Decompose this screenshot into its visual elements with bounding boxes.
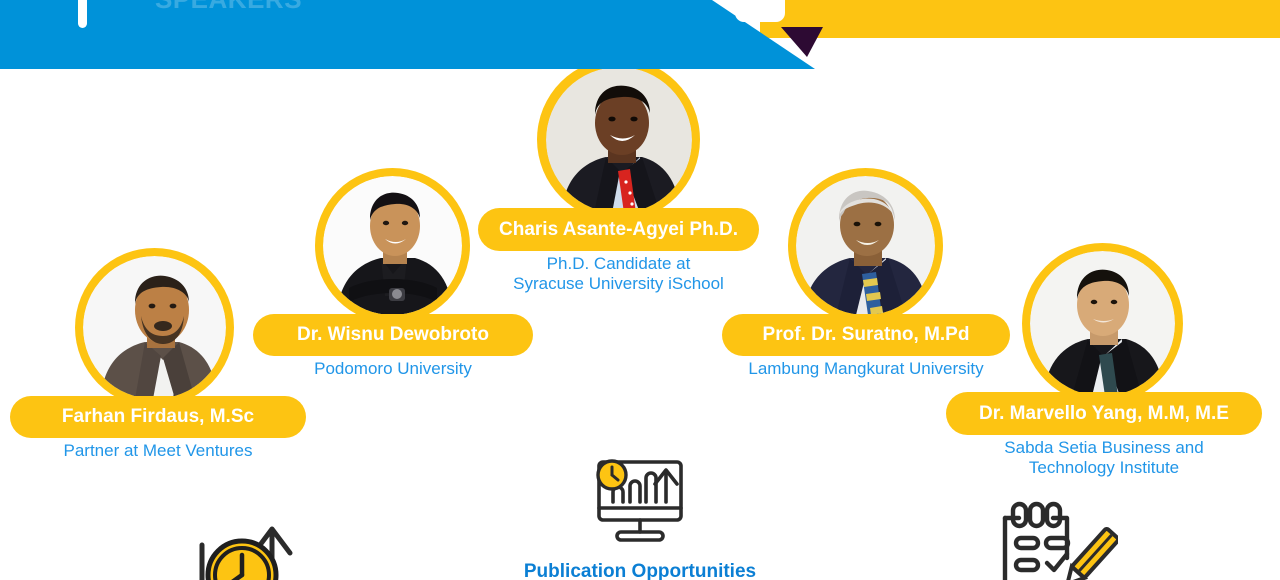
speaker-name-badge-farhan-firdaus: Farhan Firdaus, M.Sc bbox=[10, 396, 306, 438]
avatar-photo-marvello-yang bbox=[1030, 251, 1175, 396]
avatar-wisnu-dewobroto bbox=[315, 168, 470, 323]
speaker-card-marvello-yang[interactable]: Dr. Marvello Yang, M.M, M.E Sabda Setia … bbox=[1022, 243, 1183, 404]
clock-arrow-up-icon bbox=[180, 505, 310, 580]
speaker-affiliation-farhan-firdaus: Partner at Meet Ventures bbox=[10, 441, 306, 461]
banner-white-accent-bar bbox=[78, 0, 87, 28]
speaker-affiliation-wisnu-dewobroto: Podomoro University bbox=[253, 359, 533, 379]
speaker-name-badge-suratno: Prof. Dr. Suratno, M.Pd bbox=[722, 314, 1010, 356]
speaker-name-badge-marvello-yang: Dr. Marvello Yang, M.M, M.E bbox=[946, 392, 1262, 435]
feature-registration bbox=[975, 498, 1125, 580]
speaker-card-farhan-firdaus[interactable]: Farhan Firdaus, M.Sc Partner at Meet Ven… bbox=[75, 248, 234, 407]
speaker-card-charis-asante-agyei[interactable]: Charis Asante-Agyei Ph.D. Ph.D. Candidat… bbox=[537, 58, 700, 221]
portrait-wisnu-dewobroto bbox=[323, 176, 462, 315]
affiliation-line-1: Sabda Setia Business and bbox=[946, 438, 1262, 458]
avatar-photo-charis-asante-agyei bbox=[546, 67, 692, 213]
affiliation-line-2: Technology Institute bbox=[946, 458, 1262, 478]
avatar-marvello-yang bbox=[1022, 243, 1183, 404]
banner-yellow-band bbox=[760, 0, 1280, 38]
speaker-affiliation-charis-asante-agyei: Ph.D. Candidate at Syracuse University i… bbox=[478, 254, 759, 294]
feature-publication: Publication Opportunities bbox=[520, 452, 760, 580]
avatar-farhan-firdaus bbox=[75, 248, 234, 407]
avatar-suratno bbox=[788, 168, 943, 323]
portrait-marvello-yang bbox=[1030, 251, 1175, 396]
speaker-affiliation-marvello-yang: Sabda Setia Business and Technology Inst… bbox=[946, 438, 1262, 478]
avatar-photo-suratno bbox=[796, 176, 935, 315]
feature-publication-title: Publication Opportunities bbox=[520, 561, 760, 580]
speaker-card-wisnu-dewobroto[interactable]: Dr. Wisnu Dewobroto Podomoro University bbox=[315, 168, 470, 323]
speaker-name-badge-charis-asante-agyei: Charis Asante-Agyei Ph.D. bbox=[478, 208, 759, 251]
monitor-growth-chart-clock-icon bbox=[585, 452, 695, 552]
slide-canvas: SPEAKERS bbox=[0, 0, 1280, 580]
banner-title-text: SPEAKERS bbox=[155, 0, 302, 15]
banner-blue-bar bbox=[0, 0, 815, 69]
speaker-card-suratno[interactable]: Prof. Dr. Suratno, M.Pd Lambung Mangkura… bbox=[788, 168, 943, 323]
portrait-charis-asante-agyei bbox=[546, 67, 692, 213]
speaker-name-badge-wisnu-dewobroto: Dr. Wisnu Dewobroto bbox=[253, 314, 533, 356]
checklist-pencil-icon bbox=[983, 498, 1118, 580]
avatar-photo-wisnu-dewobroto bbox=[323, 176, 462, 315]
avatar-photo-farhan-firdaus bbox=[83, 256, 226, 399]
avatar-charis-asante-agyei bbox=[537, 58, 700, 221]
feature-time bbox=[175, 505, 315, 580]
speaker-affiliation-suratno: Lambung Mangkurat University bbox=[712, 359, 1020, 379]
affiliation-line-1: Ph.D. Candidate at bbox=[478, 254, 759, 274]
banner-white-tab bbox=[735, 0, 785, 22]
portrait-farhan-firdaus bbox=[83, 256, 226, 399]
affiliation-line-2: Syracuse University iSchool bbox=[478, 274, 759, 294]
portrait-suratno bbox=[796, 176, 935, 315]
